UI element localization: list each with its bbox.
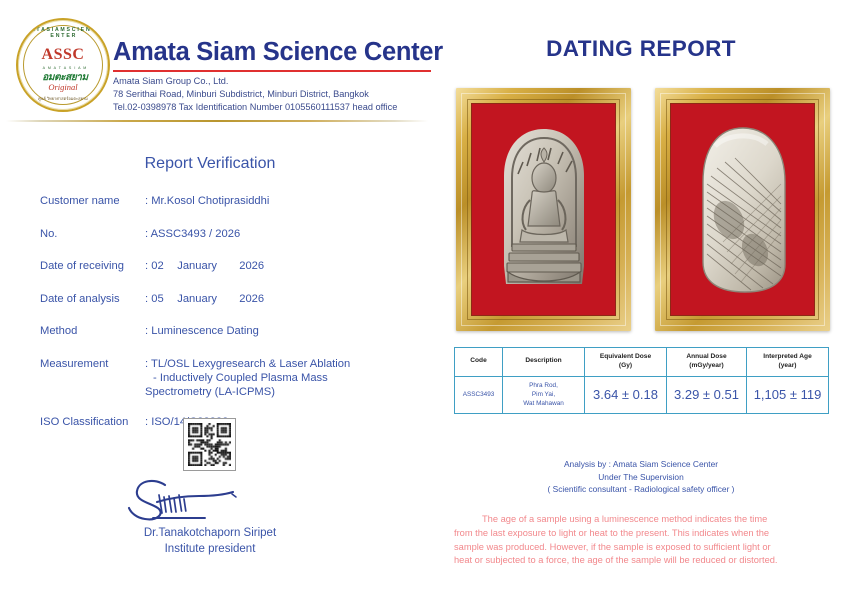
analysis-credits: Analysis by : Amata Siam Science Center … [440,458,842,496]
page-title: Report Verification [0,155,420,173]
seal-arc-bottom-text: ศูนย์ วิทยาศาสตร์อมตะสยาม [18,95,108,102]
left-panel: A M A T A S I A M S C I E N C E C E N T … [0,0,440,595]
disclaimer-line-1: The age of a sample using a luminescence… [454,513,832,527]
signer-name: Dr.Tanakotchaporn Siripet [95,527,325,539]
field-method: Method: Luminescence Dating [40,324,420,344]
field-value: : ASSC3493 / 2026 [145,227,240,241]
column-header-interpreted-age: Interpreted Age (year) [747,348,829,377]
field-measurement: Measurement: TL/OSL Lexygresearch & Lase… [40,357,420,399]
handwritten-signature-icon [115,475,265,527]
field-label: Date of receiving [40,259,145,273]
field-label: Customer name [40,194,145,208]
photo-mat [471,103,616,316]
header-line-1: Interpreted Age [763,353,811,360]
header-line-2: (Gy) [619,362,632,369]
field-date-of-analysis: Date of analysis: 05January2026 [40,292,420,312]
colon: : [145,259,148,273]
header-line-2: (mGy/year) [689,362,723,369]
desc-line-2: Pim Yai, [532,391,555,398]
table-header-row: Code Description Equivalent Dose (Gy) An… [455,348,829,377]
disclaimer-line-4: heat or subjected to a force, the age of… [454,554,832,568]
field-customer-name: Customer name: Mr.Kosol Chotiprasiddhi [40,194,420,214]
header-line-1: Code [470,357,486,364]
seal-acronym: ASSC [18,46,108,64]
seal-thai-band: A M A T A S I A M อมตะสยาม [32,66,98,81]
verification-form: Customer name: Mr.Kosol Chotiprasiddhi N… [40,194,420,447]
field-value: : 02January2026 [145,259,264,273]
address-line-3: Tel.02-0398978 Tax Identification Number… [113,102,397,112]
column-header-description: Description [503,348,585,377]
cell-interpreted-age: 1,105 ± 119 [747,376,829,413]
field-label: No. [40,227,145,241]
measurement-line-3: Spectrometry (LA-ICPMS) [145,385,350,399]
dating-report-document: A M A T A S I A M S C I E N C E C E N T … [0,0,842,595]
cell-equivalent-dose: 3.64 ± 0.18 [585,376,667,413]
photo-mat [670,103,815,316]
analysis-line-1: Analysis by : Amata Siam Science Center [440,458,842,471]
field-label: ISO Classification [40,415,145,429]
results-table: Code Description Equivalent Dose (Gy) An… [454,347,829,414]
analysis-line-3: ( Scientific consultant - Radiological s… [440,483,842,496]
field-label: Measurement [40,357,145,371]
measurement-line-1: : TL/OSL Lexygresearch & Laser Ablation [145,357,350,371]
column-header-equivalent-dose: Equivalent Dose (Gy) [585,348,667,377]
qr-code-canvas [188,423,231,466]
cell-annual-dose: 3.29 ± 0.51 [667,376,747,413]
letterhead: A M A T A S I A M S C I E N C E C E N T … [8,14,434,110]
specimen-images [456,88,830,331]
organization-title: Amata Siam Science Center [113,38,443,67]
day-value: 05 [151,292,177,306]
year-value: 2026 [239,292,264,306]
colon: : [145,292,148,306]
seal-arc-top-text: A M A T A S I A M S C I E N C E C E N T … [18,27,108,39]
amulet-front-icon [496,126,592,294]
table-row: ASSC3493 Phra Rod, Pim Yai, Wat Mahawan … [455,376,829,413]
month-value: January [177,259,239,273]
field-label: Method [40,324,145,338]
signer-role: Institute president [95,543,325,555]
column-header-annual-dose: Annual Dose (mGy/year) [667,348,747,377]
year-value: 2026 [239,259,264,273]
field-value: : Luminescence Dating [145,324,259,338]
right-panel: DATING REPORT [440,0,842,595]
field-label: Date of analysis [40,292,145,306]
field-value: : 05January2026 [145,292,264,306]
field-date-of-receiving: Date of receiving: 02January2026 [40,259,420,279]
framed-photo-front [456,88,631,331]
header-line-1: Equivalent Dose [600,353,651,360]
field-report-no: No.: ASSC3493 / 2026 [40,227,420,247]
desc-line-1: Phra Rod, [529,382,558,389]
measurement-line-2: - Inductively Coupled Plasma Mass [145,371,350,385]
report-title: DATING REPORT [440,36,842,62]
field-value: : Mr.Kosol Chotiprasiddhi [145,194,269,208]
address-line-2: 78 Serithai Road, Minburi Subdistrict, M… [113,89,369,99]
qr-code-icon[interactable] [183,418,236,471]
seal-original-text: Original [18,82,108,92]
cell-description: Phra Rod, Pim Yai, Wat Mahawan [503,376,585,413]
amulet-back-icon [693,124,793,296]
header-line-2: (year) [779,362,797,369]
framed-photo-back [655,88,830,331]
column-header-code: Code [455,348,503,377]
disclaimer-line-3: sample was produced. However, if the sam… [454,541,832,555]
month-value: January [177,292,239,306]
header-line-1: Description [525,357,561,364]
day-value: 02 [151,259,177,273]
header-divider [6,120,428,122]
header-line-1: Annual Dose [686,353,726,360]
disclaimer-line-2: from the last exposure to light or heat … [454,527,832,541]
disclaimer-note: The age of a sample using a luminescence… [454,513,832,568]
title-underline-rule [113,70,431,72]
company-seal-icon: A M A T A S I A M S C I E N C E C E N T … [16,18,110,112]
field-value: : TL/OSL Lexygresearch & Laser Ablation-… [145,357,350,399]
address-line-1: Amata Siam Group Co., Ltd. [113,76,228,86]
signature-block: Dr.Tanakotchaporn Siripet Institute pres… [95,475,325,535]
analysis-line-2: Under The Supervision [440,471,842,484]
cell-code: ASSC3493 [455,376,503,413]
desc-line-3: Wat Mahawan [523,400,564,407]
